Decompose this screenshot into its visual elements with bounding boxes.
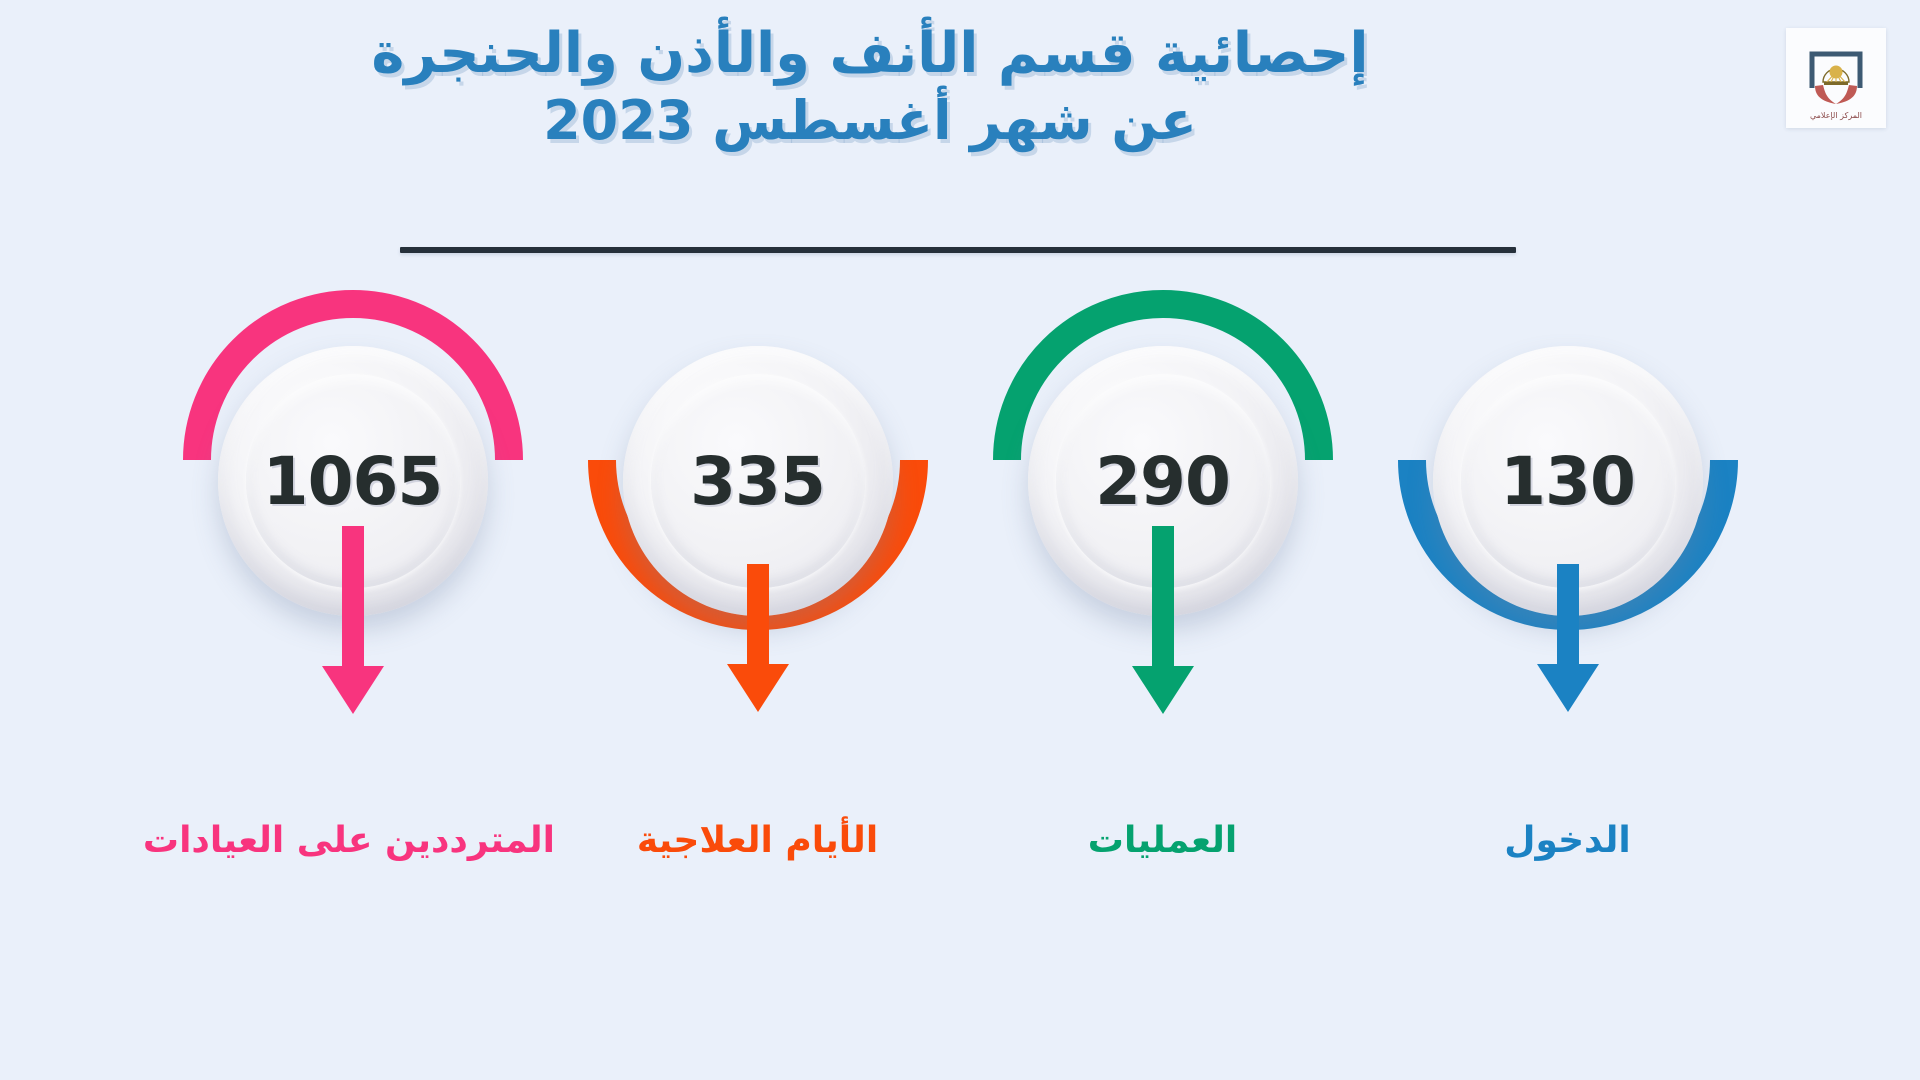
stats-row: 130 الدخول 290 xyxy=(150,290,1770,970)
stat-label: المترددين على العيادات xyxy=(150,820,555,861)
media-center-logo: المركز الإعلامي xyxy=(1786,28,1886,128)
down-arrow-icon xyxy=(314,526,392,716)
stat-item-entries[interactable]: 130 الدخول xyxy=(1365,290,1770,970)
stat-value: 290 xyxy=(1095,443,1230,520)
stat-label: الدخول xyxy=(1365,820,1770,861)
stat-item-operations[interactable]: 290 العمليات xyxy=(960,290,1365,970)
down-arrow-icon xyxy=(1529,564,1607,714)
stat-value: 130 xyxy=(1500,443,1635,520)
title-divider xyxy=(400,247,1516,253)
stat-label: العمليات xyxy=(960,820,1365,861)
assiut-university-emblem-icon xyxy=(1799,36,1873,110)
title-line-2: عن شهر أغسطس 2023 xyxy=(0,88,1740,154)
page-title: إحصائية قسم الأنف والأذن والحنجرة عن شهر… xyxy=(0,20,1740,154)
down-arrow-icon xyxy=(719,564,797,714)
stat-item-treatment-days[interactable]: 335 الأيام العلاجية xyxy=(555,290,960,970)
stat-value: 335 xyxy=(690,443,825,520)
stat-label: الأيام العلاجية xyxy=(555,820,960,861)
stat-value: 1065 xyxy=(263,443,443,520)
down-arrow-icon xyxy=(1124,526,1202,716)
infographic-canvas: المركز الإعلامي إحصائية قسم الأنف والأذن… xyxy=(0,0,1920,1080)
stat-item-clinic-visitors[interactable]: 1065 المترددين على العيادات xyxy=(150,290,555,970)
title-line-1: إحصائية قسم الأنف والأذن والحنجرة xyxy=(0,20,1740,88)
logo-caption: المركز الإعلامي xyxy=(1810,111,1862,120)
